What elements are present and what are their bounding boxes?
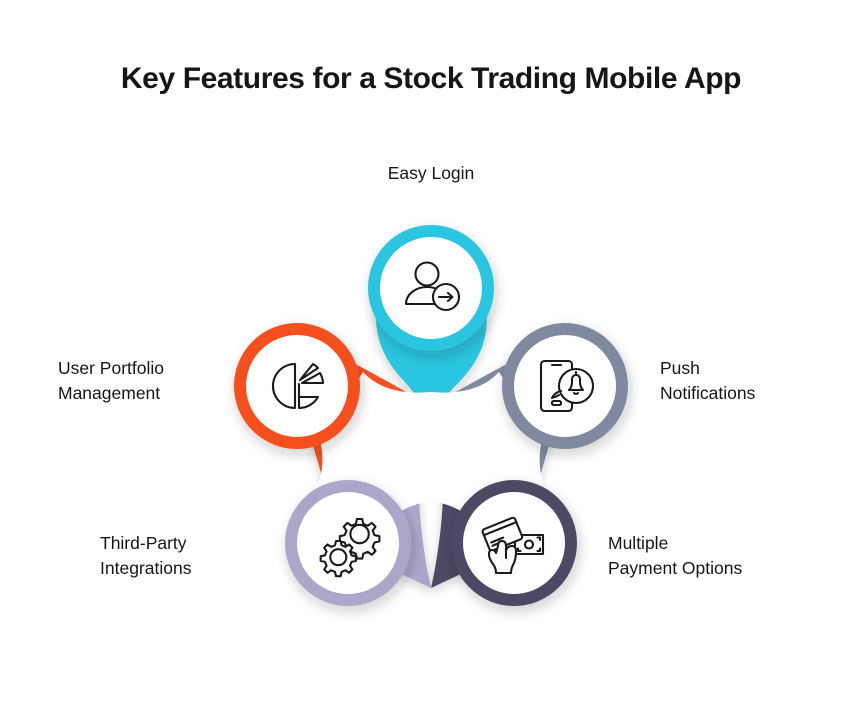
label-multiple-payment-options: Multiple Payment Options: [608, 531, 808, 581]
pentagon-ring-diagram: Easy Login User Portfolio Management Pus…: [0, 0, 862, 708]
node-circle-push-notifications[interactable]: [508, 329, 622, 443]
node-circle-third-party-integrations[interactable]: [291, 486, 405, 600]
node-circle-user-portfolio-management[interactable]: [240, 329, 354, 443]
label-easy-login: Easy Login: [331, 161, 531, 186]
label-user-portfolio-management: User Portfolio Management: [58, 356, 243, 406]
node-circle-multiple-payment-options[interactable]: [457, 486, 571, 600]
node-circle-easy-login[interactable]: [374, 231, 488, 345]
label-third-party-integrations: Third-Party Integrations: [100, 531, 280, 581]
label-push-notifications: Push Notifications: [660, 356, 850, 406]
